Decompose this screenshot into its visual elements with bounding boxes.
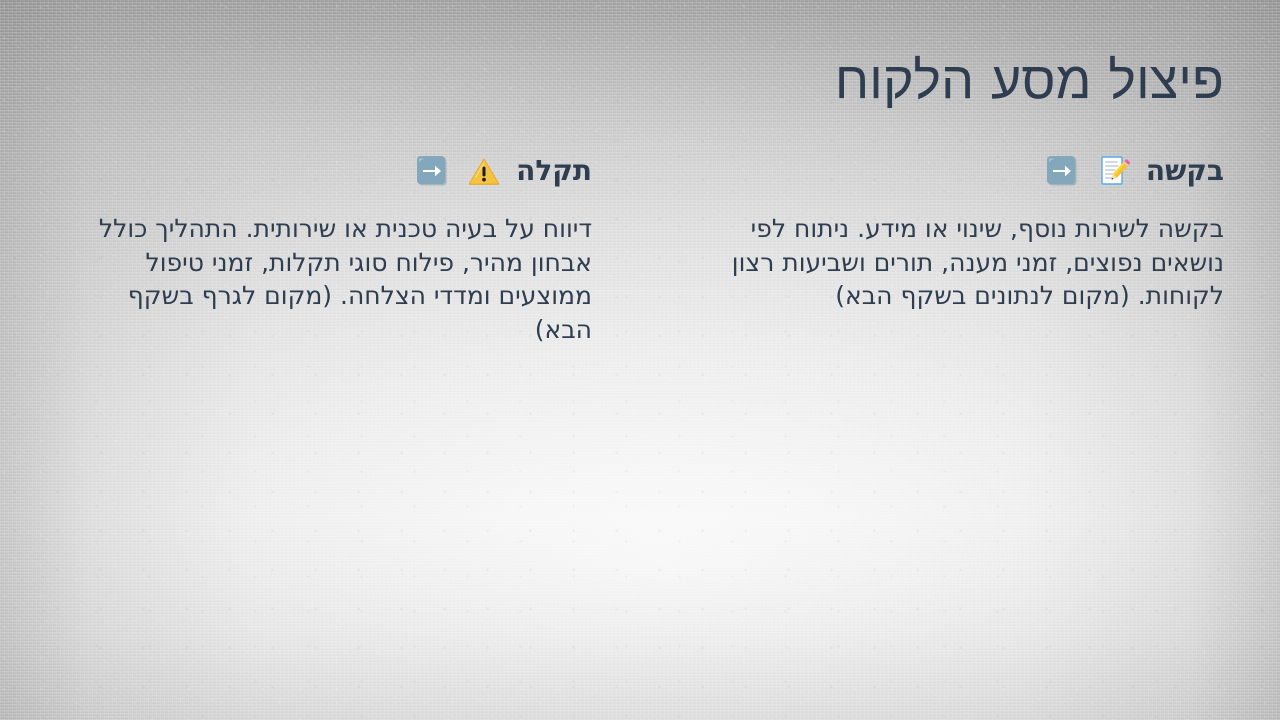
arrow-right-icon: [1042, 151, 1082, 191]
two-column-layout: בקשה: [56, 148, 1224, 346]
arrow-right-icon: [412, 151, 452, 191]
column-request-title: בקשה: [1146, 157, 1224, 185]
column-fault-title: תקלה: [516, 157, 592, 185]
column-fault-header: תקלה: [56, 148, 592, 194]
slide: פיצול מסע הלקוח בקשה: [0, 0, 1280, 720]
column-request-body: בקשה לשירות נוסף, שינוי או מידע. ניתוח ל…: [724, 212, 1224, 313]
column-request: בקשה: [688, 148, 1224, 346]
column-fault: תקלה: [56, 148, 592, 346]
column-request-header: בקשה: [688, 148, 1224, 194]
memo-icon: [1094, 151, 1134, 191]
slide-title: פיצול מסע הלקוח: [56, 52, 1224, 110]
column-fault-body: דיווח על בעיה טכנית או שירותית. התהליך כ…: [92, 212, 592, 346]
slide-content: פיצול מסע הלקוח בקשה: [0, 0, 1280, 720]
warning-icon: [464, 151, 504, 191]
